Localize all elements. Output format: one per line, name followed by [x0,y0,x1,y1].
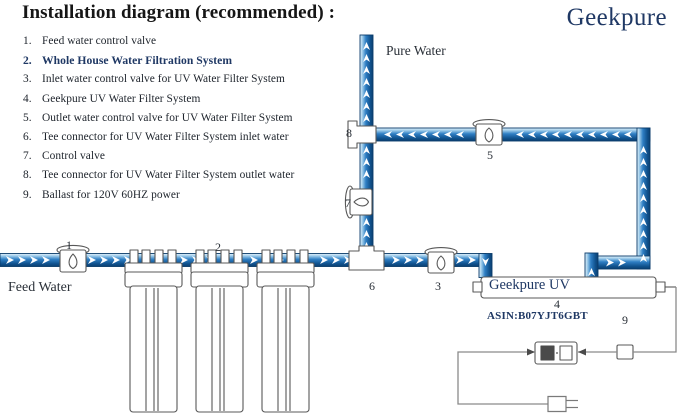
label-uv-unit: Geekpure UV [489,277,570,294]
pipe-uv-outlet-return [372,128,650,141]
callout-9: 9 [622,313,628,328]
label-asin: ASIN:B07YJT6GBT [487,310,588,322]
whole-house-filtration-system [125,250,314,412]
flow-arrows [6,42,647,276]
pipe-uv-outlet-rise [585,253,598,279]
filter-housing [125,250,182,412]
filter-housing [191,250,248,412]
arrow-up-group [363,42,647,276]
pipe-network [0,35,650,279]
callout-2: 2 [215,240,221,255]
callout-3: 3 [435,279,441,294]
valve-3-uv-inlet-control[interactable] [425,248,457,273]
callout-6: 6 [369,279,375,294]
installation-diagram-page: Installation diagram (recommended) : Gee… [0,0,679,418]
callout-4: 4 [554,297,560,312]
power-plug-icon [548,397,578,412]
valve-1-feed-water-control[interactable] [57,245,89,272]
label-feed-water: Feed Water [8,280,72,296]
tee-connector-6-uv-inlet [349,246,384,270]
callout-5: 5 [487,148,493,163]
callout-8: 8 [346,126,352,141]
callout-7: 7 [345,196,351,211]
label-pure-water: Pure Water [386,43,446,59]
plumbing-schematic [0,0,679,418]
filter-housing [257,250,314,412]
callout-1: 1 [66,238,72,253]
valve-5-uv-outlet-control[interactable] [473,120,505,145]
